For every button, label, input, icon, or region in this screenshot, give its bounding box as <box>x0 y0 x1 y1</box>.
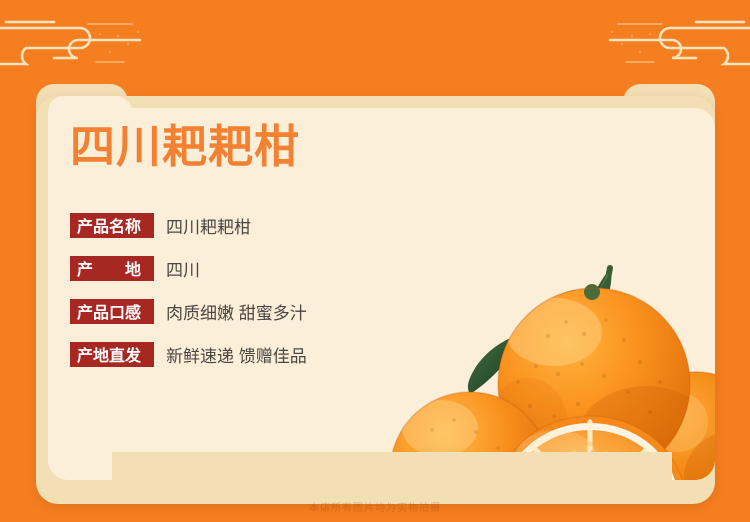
cloud-scroll-motif-right <box>598 18 750 66</box>
cloud-scroll-motif-left <box>0 18 152 66</box>
spec-label-shipping: 产地直发 <box>70 342 154 367</box>
ponkan-mandarin-photo <box>378 216 715 480</box>
card-front-panel: 四川耙耙柑 产品名称 四川耙耙柑 产 地 四川 产品口感 肉质细嫩 甜蜜多汁 产… <box>48 108 715 480</box>
page-title: 四川耙耙柑 <box>70 122 300 172</box>
spec-row-product-name: 产品名称 四川耙耙柑 <box>70 208 400 242</box>
spec-label-origin: 产 地 <box>70 256 154 281</box>
product-poster: 四川耙耙柑 产品名称 四川耙耙柑 产 地 四川 产品口感 肉质细嫩 甜蜜多汁 产… <box>0 0 750 522</box>
spec-value-shipping: 新鲜速递 馈赠佳品 <box>166 342 307 367</box>
spec-value-taste: 肉质细嫩 甜蜜多汁 <box>166 299 307 324</box>
spec-row-shipping: 产地直发 新鲜速递 馈赠佳品 <box>70 337 400 371</box>
spec-value-product-name: 四川耙耙柑 <box>166 213 251 238</box>
watermark-text: 本店所有图片均为实物拍摄 <box>0 499 750 514</box>
spec-label-product-name: 产品名称 <box>70 213 154 238</box>
spec-list: 产品名称 四川耙耙柑 产 地 四川 产品口感 肉质细嫩 甜蜜多汁 产地直发 新鲜… <box>70 208 400 380</box>
spec-label-taste: 产品口感 <box>70 299 154 324</box>
spec-value-origin: 四川 <box>166 256 200 281</box>
spec-row-taste: 产品口感 肉质细嫩 甜蜜多汁 <box>70 294 400 328</box>
spec-row-origin: 产 地 四川 <box>70 251 400 285</box>
card-front-foot <box>112 452 672 496</box>
